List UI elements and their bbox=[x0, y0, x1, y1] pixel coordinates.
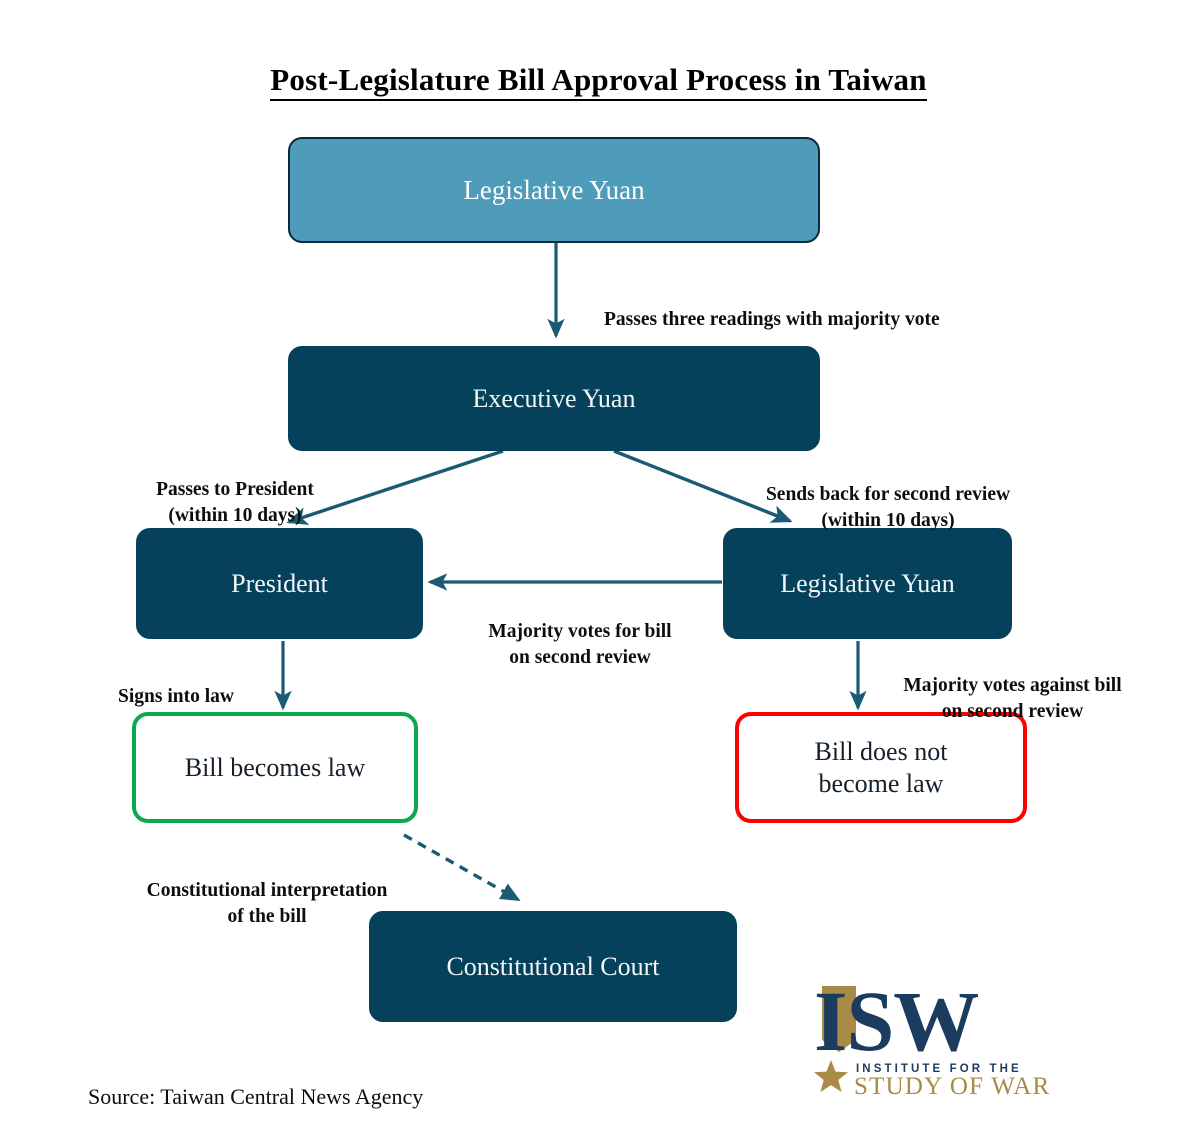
page-title-text: Post-Legislature Bill Approval Process i… bbox=[270, 62, 926, 101]
edge-label-signs-into-law: Signs into law bbox=[118, 659, 298, 710]
edge-label-text: Constitutional interpretation of the bil… bbox=[147, 880, 388, 926]
source-note-text: Source: Taiwan Central News Agency bbox=[88, 1084, 423, 1109]
node-executive-yuan[interactable]: Executive Yuan bbox=[288, 346, 820, 451]
logo-tagline-bottom-text: STUDY OF WAR bbox=[854, 1073, 1050, 1100]
page-title: Post-Legislature Bill Approval Process i… bbox=[0, 62, 1197, 98]
diagram-canvas: Post-Legislature Bill Approval Process i… bbox=[0, 0, 1197, 1130]
node-constitutional-court[interactable]: Constitutional Court bbox=[369, 911, 737, 1022]
logo-wordmark-text: ISW bbox=[814, 982, 978, 1069]
edge-label-text: Signs into law bbox=[118, 686, 234, 707]
edge-label-text: Passes three readings with majority vote bbox=[604, 309, 940, 330]
logo-tagline-bottom: STUDY OF WAR bbox=[854, 1073, 1050, 1100]
edge-label-sends-back-second-review: Sends back for second review (within 10 … bbox=[723, 457, 1053, 533]
node-legislative-yuan-2[interactable]: Legislative Yuan bbox=[723, 528, 1012, 639]
edge-label-majority-votes-against-bill: Majority votes against bill on second re… bbox=[870, 648, 1155, 724]
isw-logo: ISW INSTITUTE FOR THE STUDY OF WAR bbox=[812, 982, 1082, 1104]
node-legislative-yuan-1[interactable]: Legislative Yuan bbox=[288, 137, 820, 243]
edge-label-passes-to-president: Passes to President (within 10 days) bbox=[90, 452, 380, 528]
node-label: President bbox=[231, 568, 328, 600]
node-label: Bill does not become law bbox=[815, 736, 948, 799]
node-label: Executive Yuan bbox=[473, 383, 636, 415]
edge-label-constitutional-interpretation: Constitutional interpretation of the bil… bbox=[112, 853, 422, 929]
node-president[interactable]: President bbox=[136, 528, 423, 639]
node-label: Legislative Yuan bbox=[780, 568, 954, 600]
node-bill-does-not-become-law[interactable]: Bill does not become law bbox=[735, 712, 1027, 823]
node-label: Bill becomes law bbox=[185, 752, 366, 784]
logo-wordmark: ISW bbox=[814, 982, 978, 1069]
node-label: Legislative Yuan bbox=[463, 174, 644, 207]
source-note: Source: Taiwan Central News Agency bbox=[88, 1084, 423, 1110]
edge-label-text: Majority votes against bill on second re… bbox=[903, 675, 1121, 721]
edge-label-passes-three-readings: Passes three readings with majority vote bbox=[604, 282, 1044, 333]
edge-label-text: Sends back for second review (within 10 … bbox=[766, 484, 1010, 530]
edge-label-text: Passes to President (within 10 days) bbox=[156, 479, 314, 525]
node-label: Constitutional Court bbox=[446, 951, 659, 983]
edge-label-text: Majority votes for bill on second review bbox=[488, 621, 671, 667]
edge-label-majority-votes-for-bill: Majority votes for bill on second review bbox=[450, 594, 710, 670]
node-bill-becomes-law[interactable]: Bill becomes law bbox=[132, 712, 418, 823]
